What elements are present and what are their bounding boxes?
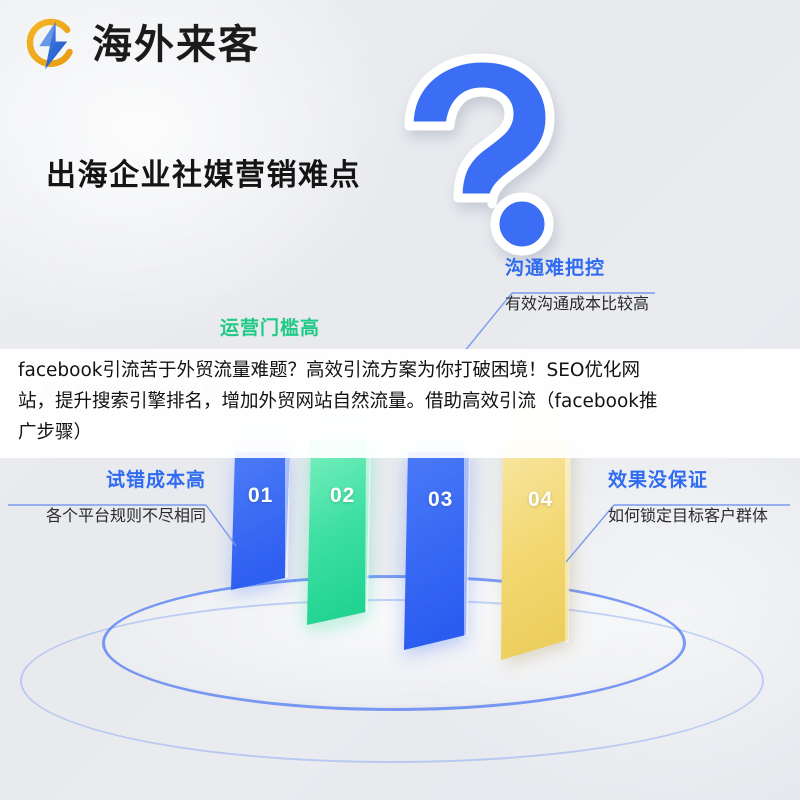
caption-line-3: 广步骤） <box>18 417 782 448</box>
lightning-bolt-circle-icon <box>22 16 80 74</box>
callout-title: 试错成本高 <box>8 470 206 493</box>
callout-communication-control[interactable]: 沟通难把控 有效沟通成本比较高 <box>505 258 755 316</box>
bar-number-02: 02 <box>330 484 355 508</box>
caption-line-2: 站，提升搜索引擎排名，增加外贸网站自然流量。借助高效引流（facebook推 <box>18 386 782 417</box>
callout-desc: 各个平台规则不尽相同 <box>8 507 206 528</box>
callout-title: 沟通难把控 <box>505 258 755 281</box>
callout-title: 运营门槛高 <box>120 318 320 341</box>
brand-lockup: 海外来客 <box>22 16 260 74</box>
callout-operation-threshold[interactable]: 运营门槛高 <box>120 318 320 341</box>
bar-number-01: 01 <box>248 484 273 508</box>
brand-name: 海外来客 <box>92 25 260 65</box>
caption-line-1: facebook引流苦于外贸流量难题？高效引流方案为你打破困境！SEO优化网 <box>18 355 782 386</box>
stage-platform <box>20 575 780 775</box>
callout-desc: 有效沟通成本比较高 <box>505 295 755 316</box>
callout-trial-cost[interactable]: 试错成本高 各个平台规则不尽相同 <box>8 470 206 528</box>
page-title: 出海企业社媒营销难点 <box>46 150 361 194</box>
callout-title: 效果没保证 <box>608 470 798 493</box>
question-mark-icon <box>378 48 608 273</box>
bar-number-04: 04 <box>528 488 553 512</box>
caption-overlay: facebook引流苦于外贸流量难题？高效引流方案为你打破困境！SEO优化网 站… <box>0 349 800 458</box>
poster-canvas: 海外来客 出海企业社媒营销难点 专业的运维人员比较难找 <box>0 0 800 800</box>
callout-no-guarantee[interactable]: 效果没保证 如何锁定目标客户群体 <box>608 470 798 528</box>
callout-desc: 如何锁定目标客户群体 <box>608 507 798 528</box>
stage-ring-inner <box>102 575 686 711</box>
bar-number-03: 03 <box>428 488 453 512</box>
